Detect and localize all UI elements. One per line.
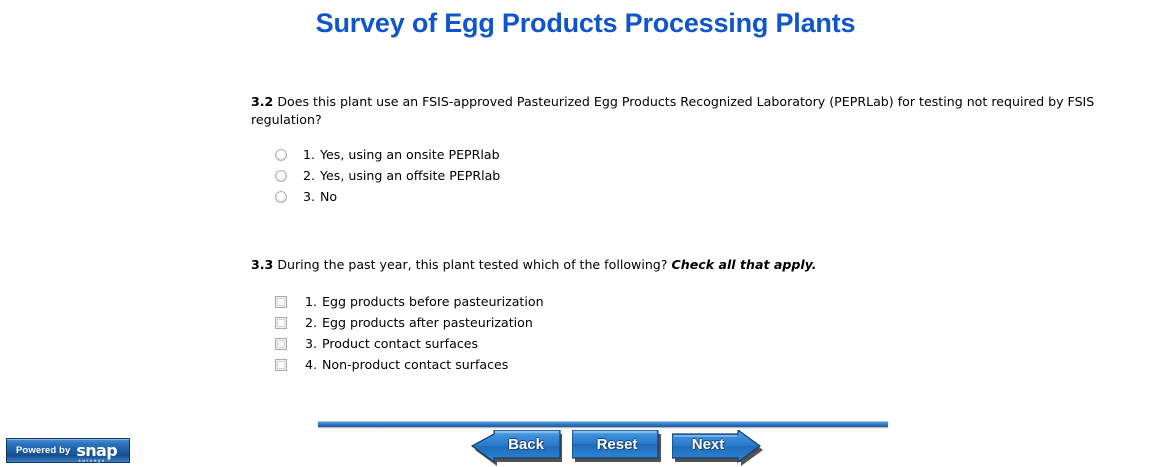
powered-by-badge[interactable]: Powered by snap surveys xyxy=(6,438,130,463)
option-number: 3. xyxy=(303,189,320,204)
question-3-3-body: During the past year, this plant tested … xyxy=(273,257,671,272)
option-label: Egg products after pasteurization xyxy=(322,315,533,330)
checkbox-icon[interactable] xyxy=(275,317,287,329)
option-label: Egg products before pasteurization xyxy=(322,294,544,309)
checkbox-icon[interactable] xyxy=(275,359,287,371)
option-label: Non-product contact surfaces xyxy=(322,357,508,372)
question-3-2-number: 3.2 xyxy=(251,94,273,109)
radio-option-1[interactable]: 1. Yes, using an onsite PEPRlab xyxy=(275,144,500,165)
page-title: Survey of Egg Products Processing Plants xyxy=(0,8,1171,39)
back-button[interactable]: Back xyxy=(470,430,562,460)
radio-option-3[interactable]: 3. No xyxy=(275,186,500,207)
option-number: 1. xyxy=(305,294,322,309)
checkbox-option-1[interactable]: 1. Egg products before pasteurization xyxy=(275,291,544,312)
snap-logo: snap surveys xyxy=(76,443,117,459)
checkbox-icon[interactable] xyxy=(275,296,287,308)
back-arrow-icon xyxy=(470,430,562,466)
option-label: Product contact surfaces xyxy=(322,336,478,351)
snap-brand-subtext: surveys xyxy=(78,459,105,463)
question-3-3: 3.3 During the past year, this plant tes… xyxy=(251,256,1163,274)
radio-icon[interactable] xyxy=(275,170,287,182)
option-number: 1. xyxy=(303,147,320,162)
next-button[interactable]: Next xyxy=(672,430,764,460)
radio-icon[interactable] xyxy=(275,149,287,161)
reset-button[interactable]: Reset xyxy=(572,430,662,460)
radio-option-2[interactable]: 2. Yes, using an offsite PEPRlab xyxy=(275,165,500,186)
question-3-2-options: 1. Yes, using an onsite PEPRlab 2. Yes, … xyxy=(275,144,500,207)
snap-brand-text: snap xyxy=(76,443,117,459)
question-3-3-emphasis: Check all that apply. xyxy=(672,257,817,272)
powered-by-text: Powered by xyxy=(16,445,70,456)
option-number: 4. xyxy=(305,357,322,372)
next-arrow-icon xyxy=(672,430,764,466)
option-number: 2. xyxy=(305,315,322,330)
checkbox-option-3[interactable]: 3. Product contact surfaces xyxy=(275,333,544,354)
reset-button-icon xyxy=(572,430,662,466)
option-label: Yes, using an offsite PEPRlab xyxy=(320,168,500,183)
question-3-3-number: 3.3 xyxy=(251,257,273,272)
checkbox-icon[interactable] xyxy=(275,338,287,350)
checkbox-option-4[interactable]: 4. Non-product contact surfaces xyxy=(275,354,544,375)
question-3-2-text: 3.2 Does this plant use an FSIS-approved… xyxy=(251,93,1163,129)
question-3-2: 3.2 Does this plant use an FSIS-approved… xyxy=(251,93,1163,129)
radio-icon[interactable] xyxy=(275,191,287,203)
checkbox-option-2[interactable]: 2. Egg products after pasteurization xyxy=(275,312,544,333)
option-number: 2. xyxy=(303,168,320,183)
option-label: No xyxy=(320,189,337,204)
option-label: Yes, using an onsite PEPRlab xyxy=(320,147,500,162)
option-number: 3. xyxy=(305,336,322,351)
question-3-3-options: 1. Egg products before pasteurization 2.… xyxy=(275,291,544,375)
question-3-2-body: Does this plant use an FSIS-approved Pas… xyxy=(251,94,1094,127)
question-3-3-text: 3.3 During the past year, this plant tes… xyxy=(251,256,1163,274)
footer-divider xyxy=(318,421,888,427)
